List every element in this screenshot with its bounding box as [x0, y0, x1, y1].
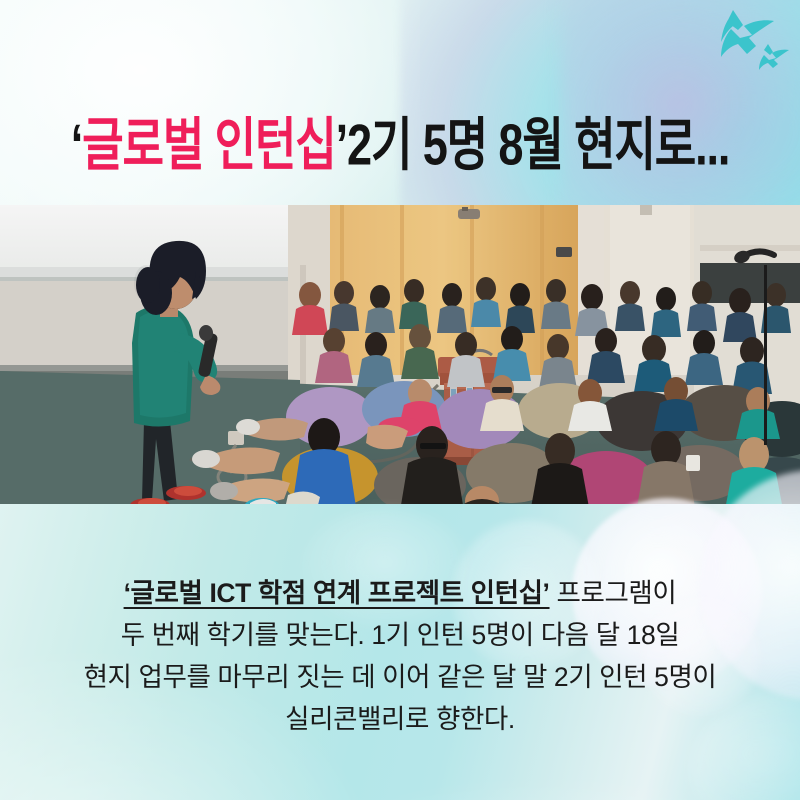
- caption-line: 실리콘밸리로 향한다.: [0, 698, 800, 740]
- caption-text: 실리콘밸리로 향한다.: [285, 704, 515, 734]
- lecture-photo: [0, 205, 800, 512]
- headline-close-quote: ’: [336, 112, 347, 177]
- caption-text: 두 번째 학기를 맞는다. 1기 인턴 5명이 다음 달 18일: [121, 620, 680, 650]
- headline: ‘글로벌 인턴십’2기 5명 8월 현지로...: [0, 104, 800, 184]
- infographic-card: ‘글로벌 인턴십’2기 5명 8월 현지로...: [0, 0, 800, 800]
- caption-line: 현지 업무를 마무리 짓는 데 이어 같은 달 말 2기 인턴 5명이: [0, 656, 800, 698]
- two-swallow-birds-logo: [700, 6, 792, 80]
- caption-line: 두 번째 학기를 맞는다. 1기 인턴 5명이 다음 달 18일: [0, 614, 800, 656]
- caption-emphasis: ‘글로벌 ICT 학점 연계 프로젝트 인턴십’: [124, 578, 550, 608]
- caption-block: ‘글로벌 ICT 학점 연계 프로젝트 인턴십’ 프로그램이 두 번째 학기를 …: [0, 572, 800, 740]
- headline-highlight: 글로벌 인턴십: [82, 112, 336, 177]
- headline-rest: 2기 5명 8월 현지로...: [347, 112, 729, 177]
- caption-text: 현지 업무를 마무리 짓는 데 이어 같은 달 말 2기 인턴 5명이: [84, 662, 717, 692]
- caption-line: ‘글로벌 ICT 학점 연계 프로젝트 인턴십’ 프로그램이: [0, 572, 800, 614]
- headline-open-quote: ‘: [71, 112, 82, 177]
- caption-text: 프로그램이: [550, 578, 677, 608]
